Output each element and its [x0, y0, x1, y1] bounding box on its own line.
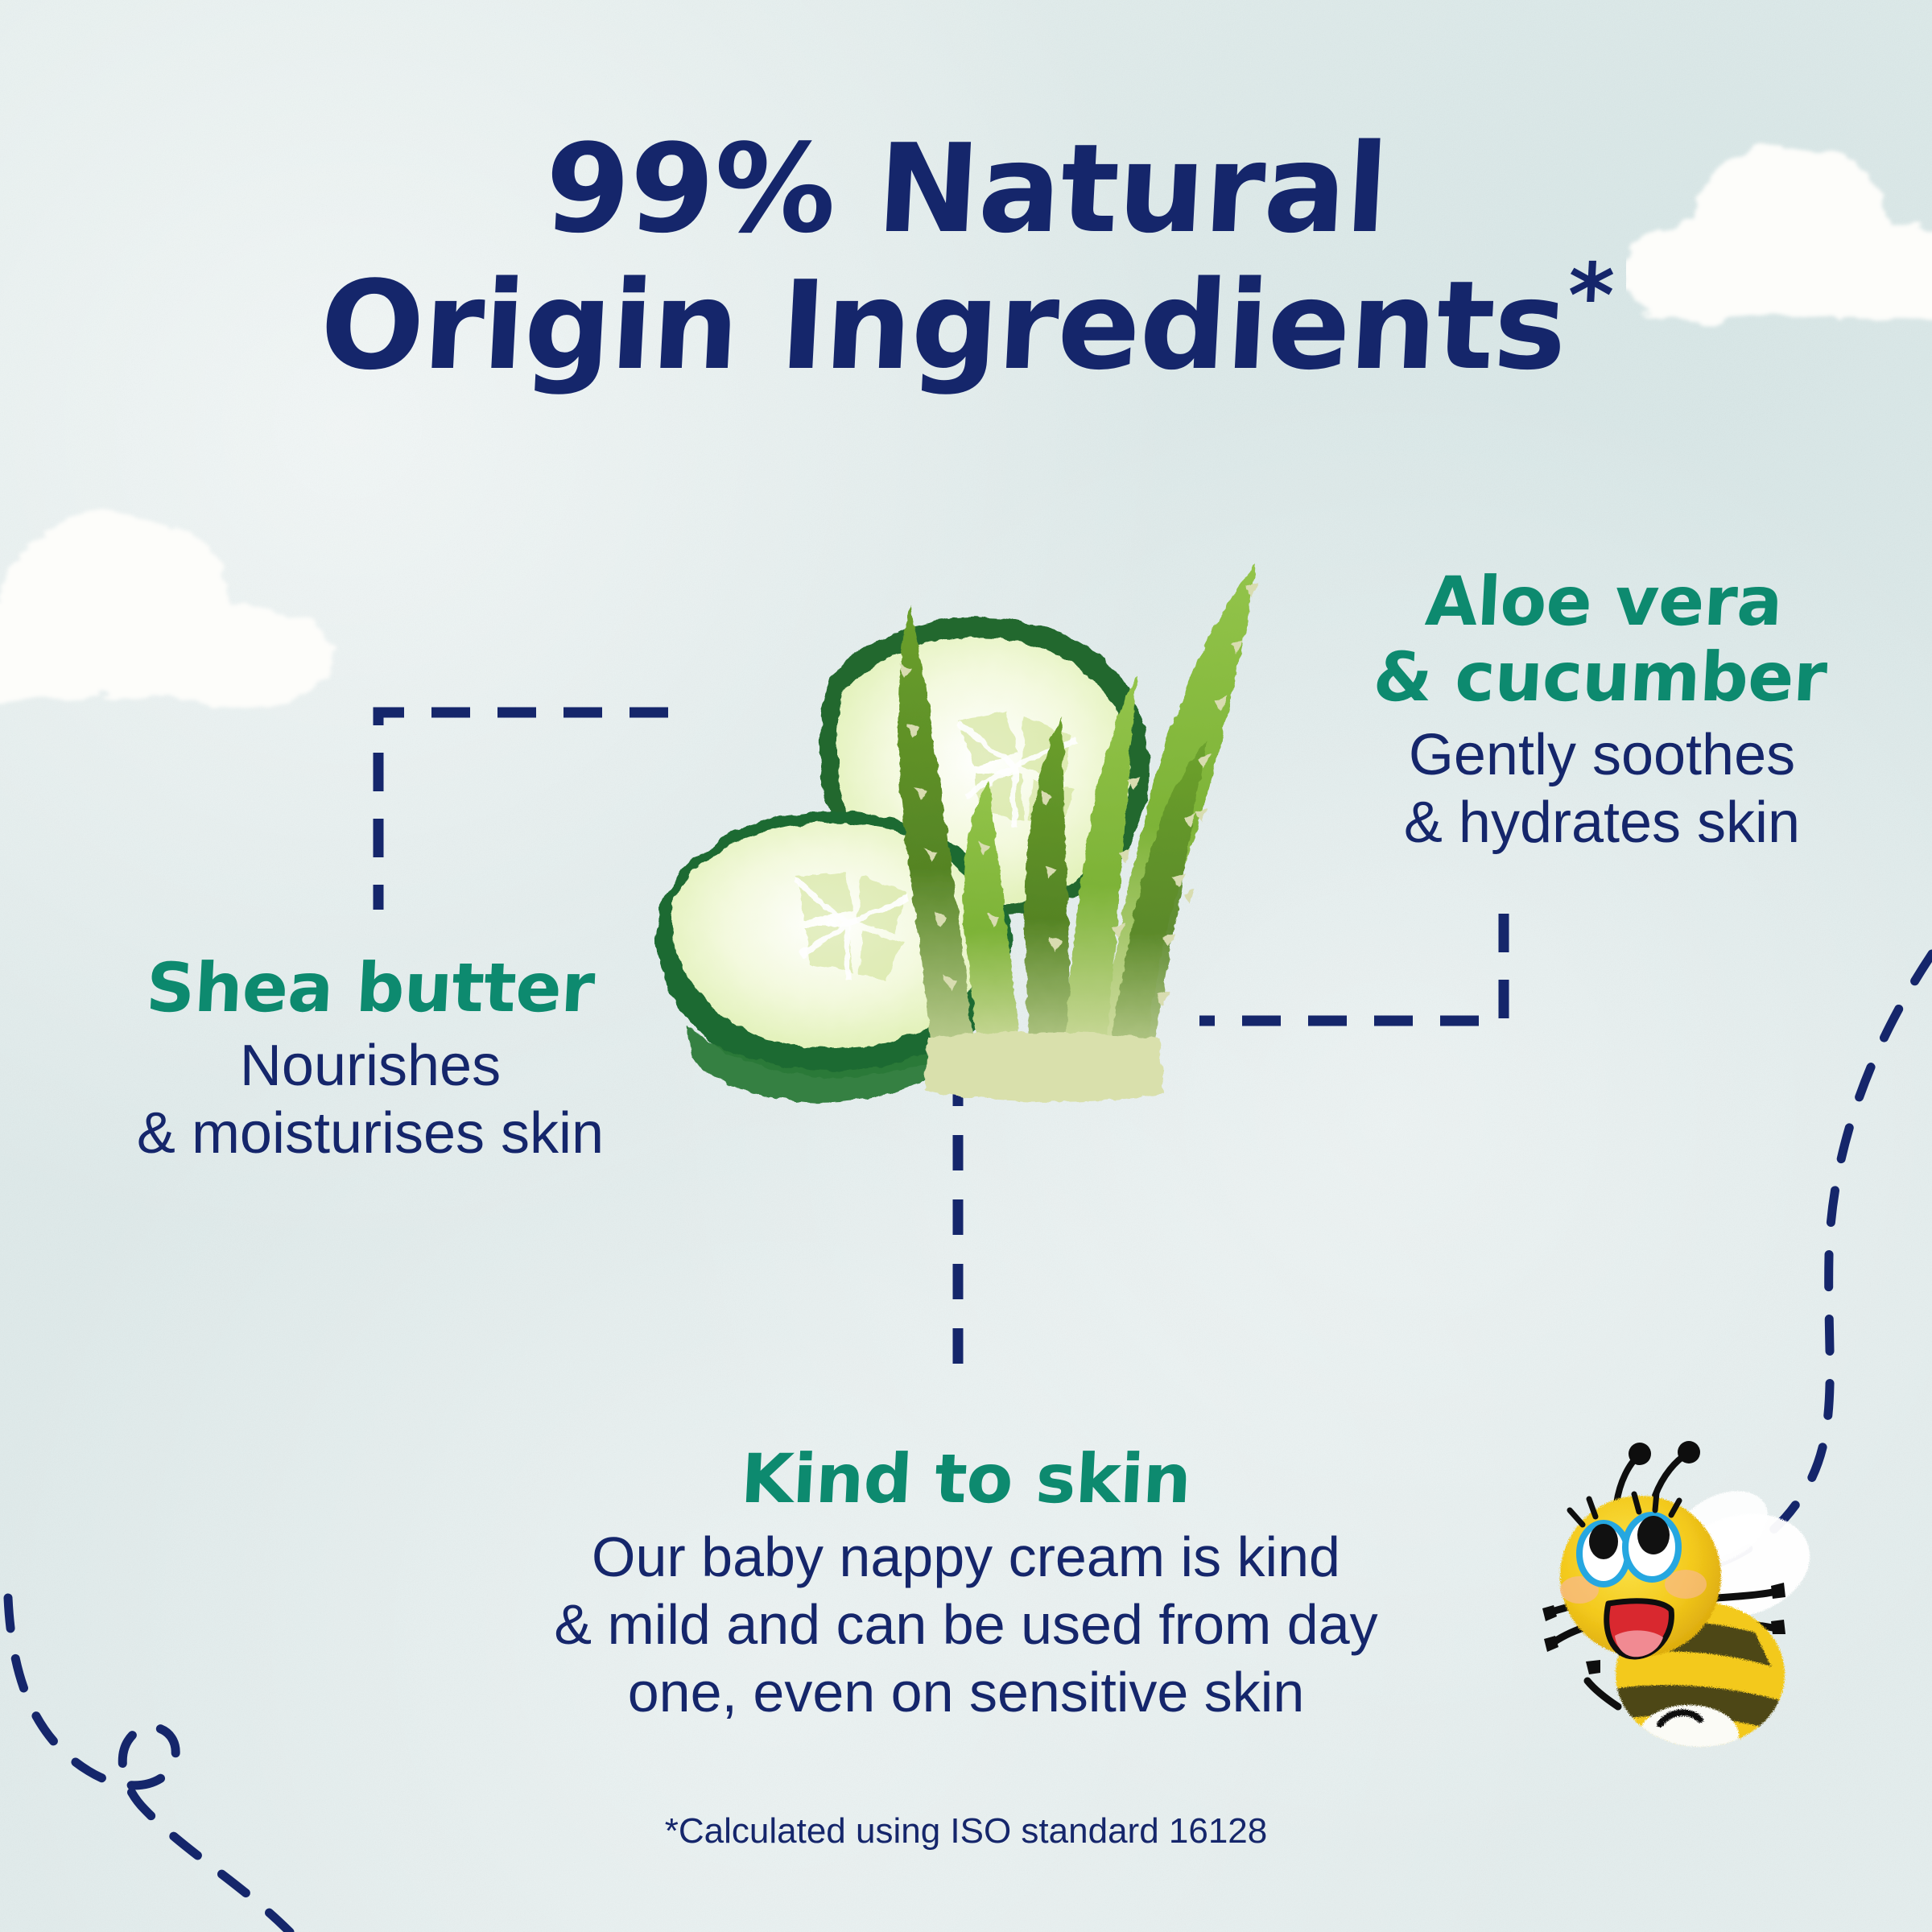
poster-canvas: 99% Natural Origin Ingredients* [0, 0, 1932, 1932]
feature-aloe-title: Aloe vera & cucumber [1316, 563, 1888, 715]
bee-antenna-tip-left [1629, 1443, 1651, 1465]
title-asterisk: * [1565, 245, 1616, 348]
footnote-text: *Calculated using ISO standard 16128 [0, 1811, 1932, 1851]
feature-aloe-vera-cucumber: Aloe vera & cucumber Gently soothes & hy… [1320, 563, 1884, 857]
title-line-1: 99% Natural [0, 121, 1932, 258]
page-title: 99% Natural Origin Ingredients* [0, 121, 1932, 394]
bee-antennae [1616, 1454, 1687, 1504]
feature-shea-title: Shea butter [47, 950, 695, 1026]
bee-flight-trail-bottom-left [8, 1598, 290, 1932]
cucumber-aloe-illustration [612, 555, 1288, 1119]
bee-antenna-tip-right [1678, 1441, 1700, 1463]
title-line-2-text: Origin Ingredients [316, 254, 1570, 397]
title-line-2: Origin Ingredients* [0, 258, 1932, 394]
feature-shea-body: Nourishes & moisturises skin [48, 1032, 692, 1167]
feature-kind-body: Our baby nappy cream is kind & mild and … [427, 1523, 1505, 1726]
bee-mascot-illustration [1513, 1425, 1868, 1795]
feature-aloe-body: Gently soothes & hydrates skin [1320, 721, 1884, 857]
cloud-left-icon [0, 491, 346, 716]
feature-kind-to-skin: Kind to skin Our baby nappy cream is kin… [427, 1441, 1505, 1726]
feature-shea-butter: Shea butter Nourishes & moisturises skin [48, 950, 692, 1168]
feature-kind-title: Kind to skin [425, 1441, 1508, 1517]
